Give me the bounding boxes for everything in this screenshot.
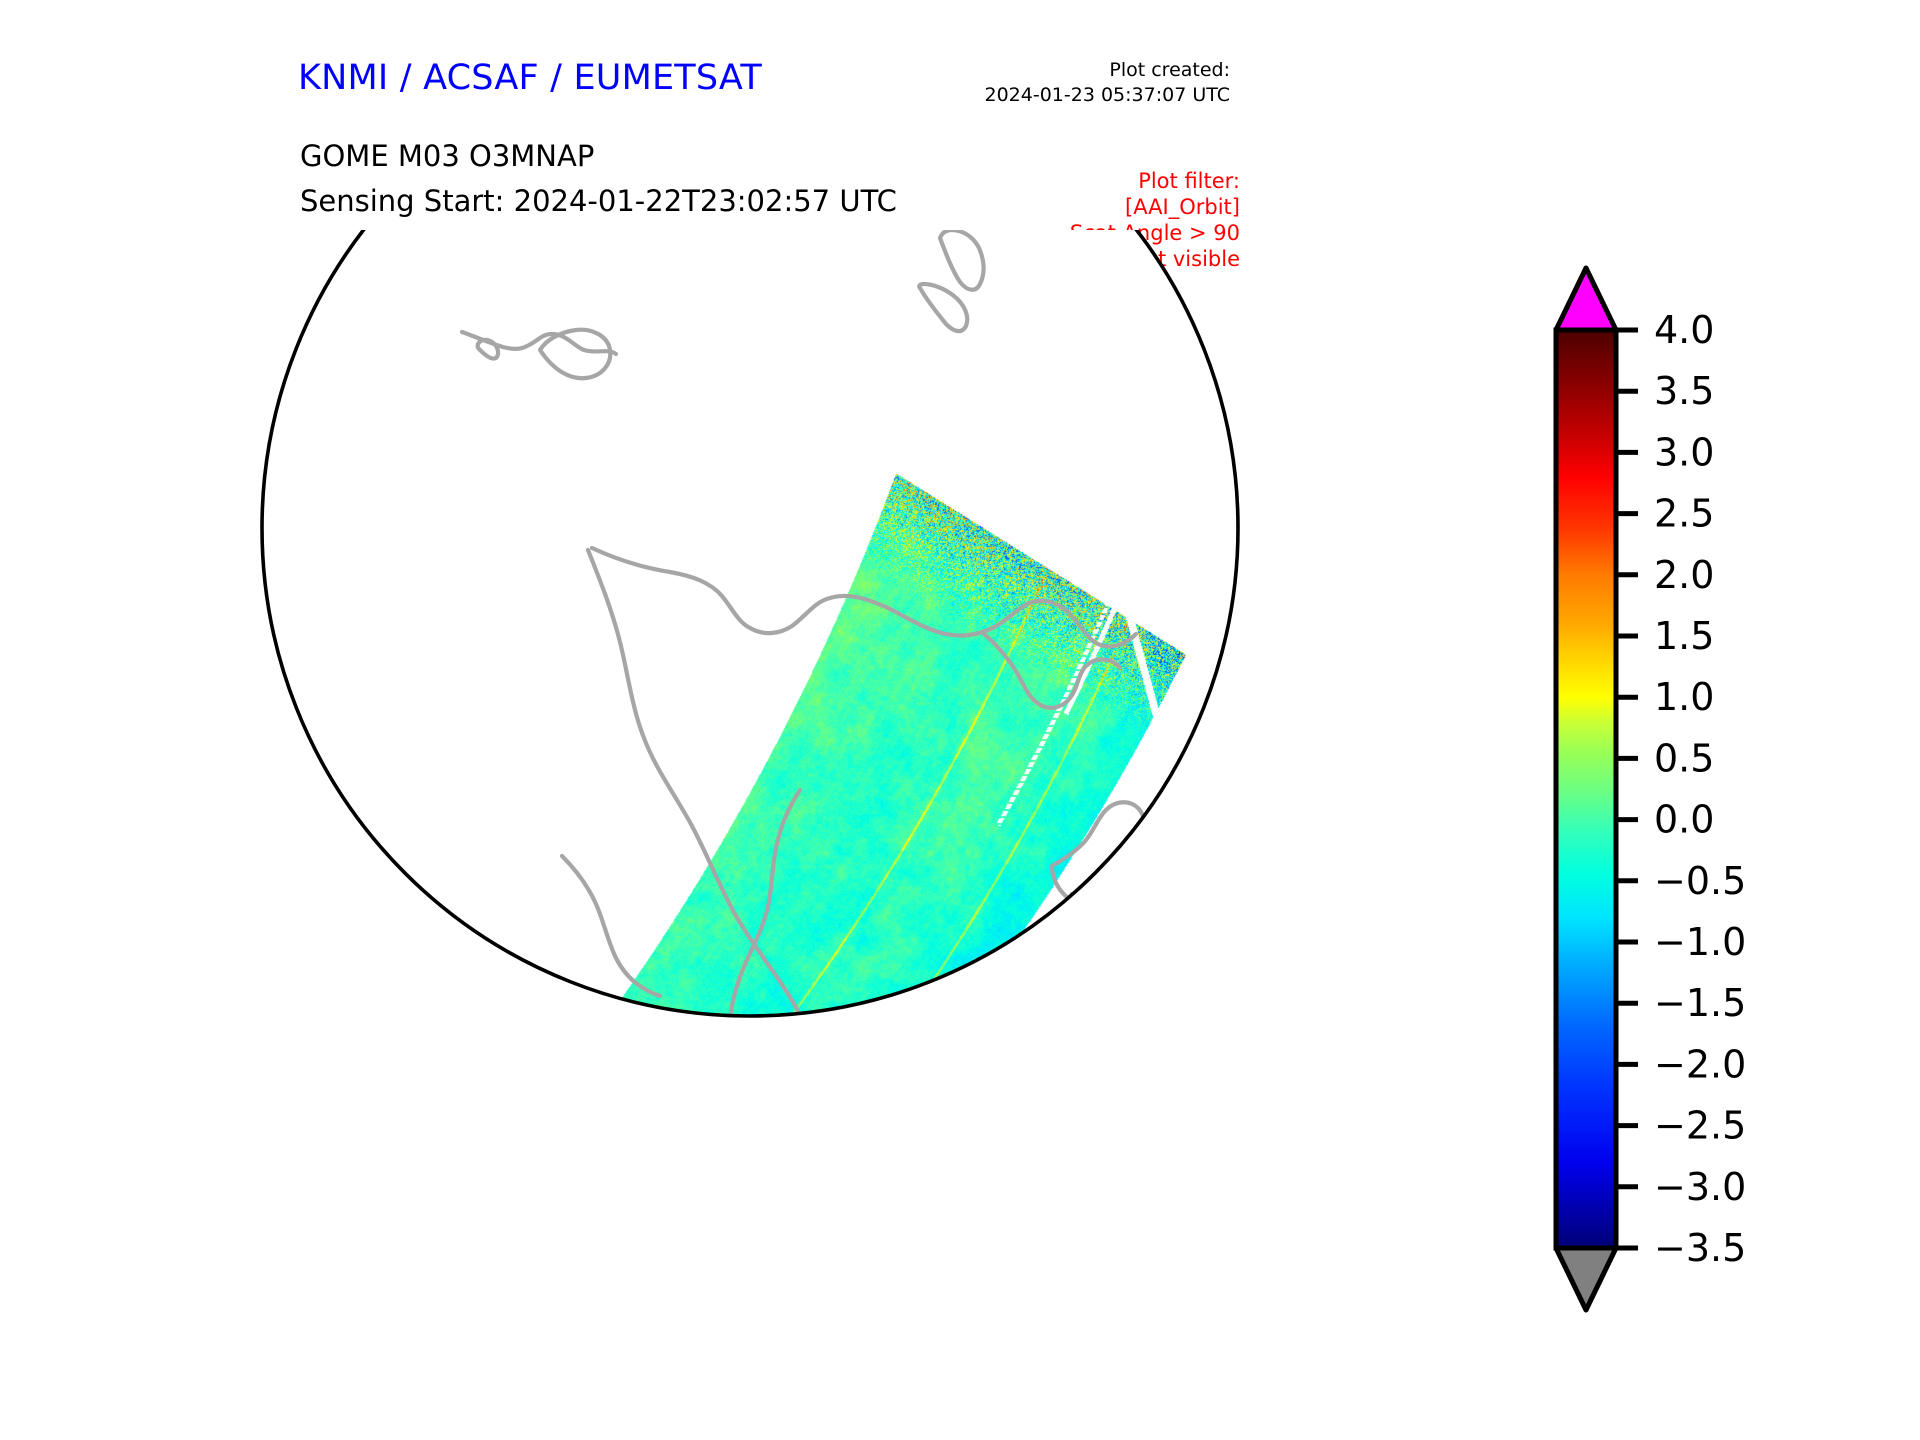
coastline-segment-11 (740, 1068, 910, 1070)
colorbar-area: 4.03.53.02.52.01.51.00.50.0−0.5−1.0−1.5−… (1520, 240, 1900, 1330)
colorbar-tick-labels: 4.03.53.02.52.01.51.00.50.0−0.5−1.0−1.5−… (1654, 308, 1746, 1270)
polar-stereographic-map (240, 230, 1260, 1070)
colorbar-tick-label-9: −0.5 (1654, 859, 1746, 903)
plot-filter-line-1: [AAI_Orbit] (1070, 194, 1240, 220)
plot-created-block: Plot created: 2024-01-23 05:37:07 UTC (985, 58, 1231, 108)
plot-created-value: 2024-01-23 05:37:07 UTC (985, 83, 1231, 108)
colorbar-tick-label-11: −1.5 (1654, 981, 1746, 1025)
satellite-swath (240, 230, 1260, 1070)
coastline-segment-16 (1170, 850, 1188, 868)
colorbar-tick-label-0: 4.0 (1654, 308, 1714, 352)
colorbar-tick-label-5: 1.5 (1654, 614, 1714, 658)
coastline-segment-14 (1192, 779, 1260, 844)
colorbar-tick-label-15: −3.5 (1654, 1226, 1746, 1270)
product-name: GOME M03 O3MNAP (300, 139, 594, 173)
colorbar-tick-label-12: −2.0 (1654, 1042, 1746, 1086)
swath-raster (240, 230, 1260, 1070)
colorbar-tick-label-2: 3.0 (1654, 430, 1714, 474)
org-title: KNMI / ACSAF / EUMETSAT (298, 58, 762, 98)
map-plot-area (240, 230, 1260, 1070)
coastline-segment-19 (826, 1060, 928, 1070)
map-content (240, 230, 1260, 1070)
colorbar-over-arrow (1556, 268, 1616, 330)
colorbar: 4.03.53.02.52.01.51.00.50.0−0.5−1.0−1.5−… (1520, 240, 1900, 1330)
colorbar-tick-label-1: 3.5 (1654, 369, 1714, 413)
colorbar-under-arrow (1556, 1248, 1616, 1310)
colorbar-tick-label-4: 2.0 (1654, 553, 1714, 597)
plot-created-label: Plot created: (985, 58, 1231, 83)
colorbar-tick-label-3: 2.5 (1654, 492, 1714, 536)
colorbar-tick-label-13: −2.5 (1654, 1104, 1746, 1148)
colorbar-tick-label-8: 0.0 (1654, 798, 1714, 842)
coastline-segment-13 (620, 1066, 638, 1070)
colorbar-ticks (1616, 330, 1638, 1248)
colorbar-tick-label-14: −3.0 (1654, 1165, 1746, 1209)
colorbar-tick-label-6: 1.0 (1654, 675, 1714, 719)
colorbar-tick-label-10: −1.0 (1654, 920, 1746, 964)
colorbar-gradient-bar (1556, 330, 1616, 1248)
colorbar-tick-label-7: 0.5 (1654, 736, 1714, 780)
plot-filter-line-0: Plot filter: (1070, 168, 1240, 194)
sensing-start: Sensing Start: 2024-01-22T23:02:57 UTC (300, 184, 897, 218)
coastline-segment-15 (1198, 850, 1252, 926)
